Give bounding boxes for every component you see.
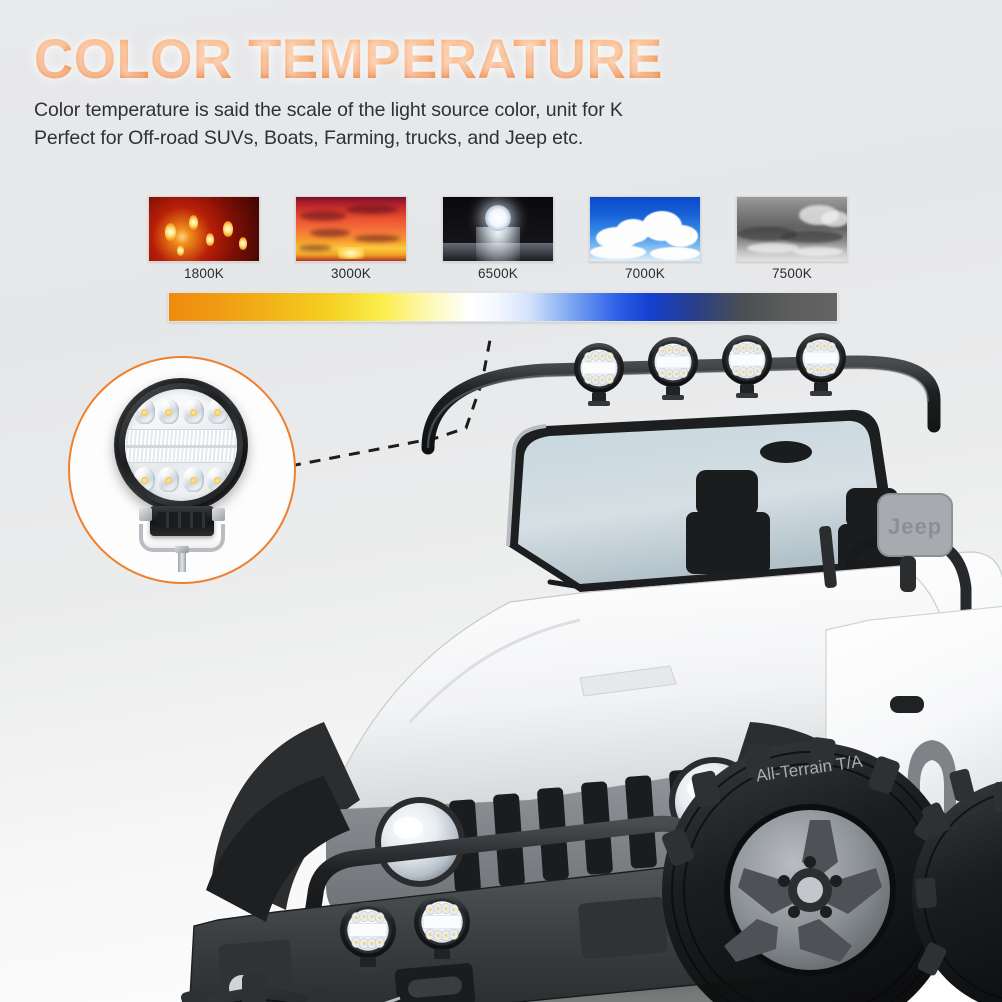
swatch-cell-3000k: 3000K xyxy=(295,196,407,281)
door-handle xyxy=(890,696,924,713)
subtitle-line-2: Perfect for Off-road SUVs, Boats, Farmin… xyxy=(34,125,974,153)
swatch-image-grey-clouds xyxy=(736,196,848,262)
subtitle-line-1: Color temperature is said the scale of t… xyxy=(34,97,974,125)
header: COLOR TEMPERATURE Color temperature is s… xyxy=(34,30,974,152)
jeep-wrangler-illustration: MOPAR Jeep All-Terrain T/A xyxy=(110,330,1002,1002)
swatch-label-7500k: 7500K xyxy=(736,266,848,281)
swatch-label-6500k: 6500K xyxy=(442,266,554,281)
swatch-image-blue-sky xyxy=(589,196,701,262)
swatch-cell-6500k: 6500K xyxy=(442,196,554,281)
roof-lamp-1 xyxy=(574,343,624,406)
page-subtitle: Color temperature is said the scale of t… xyxy=(34,97,974,152)
jeep-badge: Jeep xyxy=(888,514,942,539)
roof-lamp-4 xyxy=(796,333,846,396)
swatch-cell-1800k: 1800K xyxy=(148,196,260,281)
swatch-cell-7500k: 7500K xyxy=(736,196,848,281)
roof-lamp-2 xyxy=(648,337,698,400)
swatch-label-3000k: 3000K xyxy=(295,266,407,281)
swatch-cell-7000k: 7000K xyxy=(589,196,701,281)
page-title: COLOR TEMPERATURE xyxy=(34,30,946,87)
swatch-image-candles xyxy=(148,196,260,262)
swatch-label-7000k: 7000K xyxy=(589,266,701,281)
swatch-image-sunset xyxy=(295,196,407,262)
color-temperature-swatch-row: 1800K 3000K 6500K 7000K xyxy=(148,196,848,280)
swatch-image-led-white xyxy=(442,196,554,262)
swatch-label-1800k: 1800K xyxy=(148,266,260,281)
roof-lamp-3 xyxy=(722,335,772,398)
